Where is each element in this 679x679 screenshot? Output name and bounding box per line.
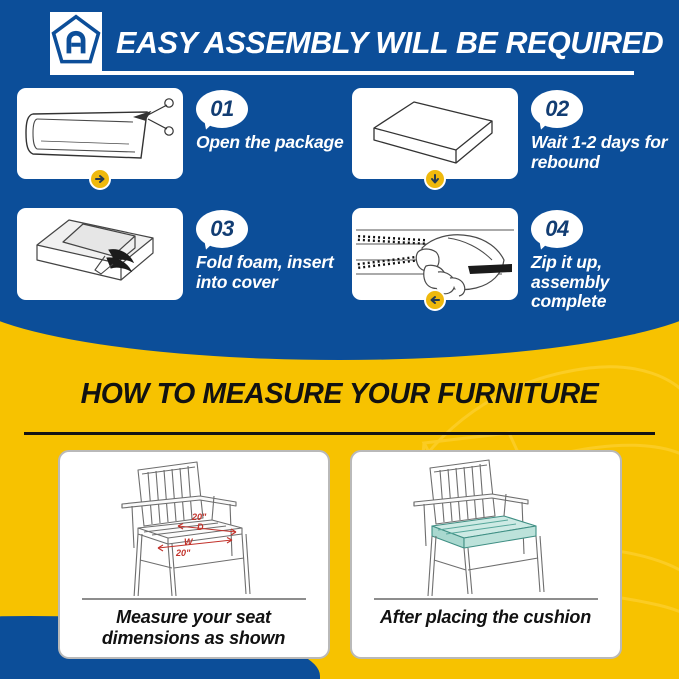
step-01-arrow-badge <box>89 168 111 190</box>
step-02-label: Wait 1-2 days for rebound <box>531 133 679 172</box>
step-04-label: Zip it up, assembly complete <box>531 253 679 312</box>
step-01-number-bubble: 01 <box>196 90 250 130</box>
step-item-04: 04 Zip it up, assembly complete <box>344 208 679 312</box>
depth-label: D <box>197 522 204 532</box>
step-03-card <box>17 208 183 300</box>
step-04-text: 04 Zip it up, assembly complete <box>518 208 679 312</box>
bubble-circle: 04 <box>531 210 583 248</box>
step-04-number: 04 <box>545 216 568 242</box>
step-02-number-bubble: 02 <box>531 90 585 130</box>
measure-panel-cushion: After placing the cushion <box>350 450 622 659</box>
step-01-text: 01 Open the package <box>183 88 344 153</box>
panel-caption-divider <box>82 598 306 600</box>
infographic-page: EASY ASSEMBLY WILL BE REQUIRED <box>0 0 679 679</box>
package-scissors-icon <box>17 88 183 179</box>
arrow-left-icon <box>429 294 441 306</box>
bubble-circle: 02 <box>531 90 583 128</box>
foam-slab-icon <box>352 88 518 179</box>
steps-grid: 01 Open the package <box>0 88 679 312</box>
arrow-down-icon <box>429 173 441 185</box>
arrow-right-icon <box>94 173 106 185</box>
measure-section-title: HOW TO MEASURE YOUR FURNITURE <box>0 378 679 411</box>
hand-zipper-icon <box>352 208 518 300</box>
step-04-card <box>352 208 518 300</box>
panel-caption-divider <box>374 598 598 600</box>
step-01-label: Open the package <box>196 133 344 153</box>
width-label: W <box>184 537 194 547</box>
step-04-number-bubble: 04 <box>531 210 585 250</box>
chair-cushion-art <box>352 456 620 596</box>
foam-insert-cover-icon <box>17 208 183 300</box>
panel-1-caption: Measure your seat dimensions as shown <box>60 607 328 649</box>
bubble-circle: 03 <box>196 210 248 248</box>
step-02-text: 02 Wait 1-2 days for rebound <box>518 88 679 172</box>
width-value: 20" <box>175 548 191 558</box>
step-03-text: 03 Fold foam, insert into cover <box>183 208 344 292</box>
logo-container <box>50 12 102 74</box>
measure-panels: 20" D W 20" Measure your seat dimensions… <box>0 450 679 659</box>
measure-divider <box>24 432 655 435</box>
measure-panel-dimensions: 20" D W 20" Measure your seat dimensions… <box>58 450 330 659</box>
chair-with-cushion-icon <box>352 456 620 596</box>
step-03-label: Fold foam, insert into cover <box>196 253 344 292</box>
house-pentagon-icon <box>50 12 102 73</box>
step-03-number-bubble: 03 <box>196 210 250 250</box>
step-03-number: 03 <box>210 216 233 242</box>
step-item-03: 03 Fold foam, insert into cover <box>0 208 344 312</box>
header-divider <box>50 71 634 75</box>
chair-with-dimensions-icon: 20" D W 20" <box>60 456 328 596</box>
step-02-arrow-badge <box>424 168 446 190</box>
steps-row-top: 01 Open the package <box>0 88 679 179</box>
step-01-number: 01 <box>210 96 233 122</box>
step-02-number: 02 <box>545 96 568 122</box>
step-01-card <box>17 88 183 179</box>
depth-value: 20" <box>191 512 207 522</box>
bubble-circle: 01 <box>196 90 248 128</box>
panel-2-caption: After placing the cushion <box>372 607 599 628</box>
steps-row-bottom: 03 Fold foam, insert into cover <box>0 208 679 312</box>
step-02-card <box>352 88 518 179</box>
step-04-arrow-badge <box>424 289 446 311</box>
chair-dimensions-art: 20" D W 20" <box>60 456 328 596</box>
step-item-01: 01 Open the package <box>0 88 344 179</box>
step-item-02: 02 Wait 1-2 days for rebound <box>344 88 679 179</box>
page-title: EASY ASSEMBLY WILL BE REQUIRED <box>116 26 663 61</box>
